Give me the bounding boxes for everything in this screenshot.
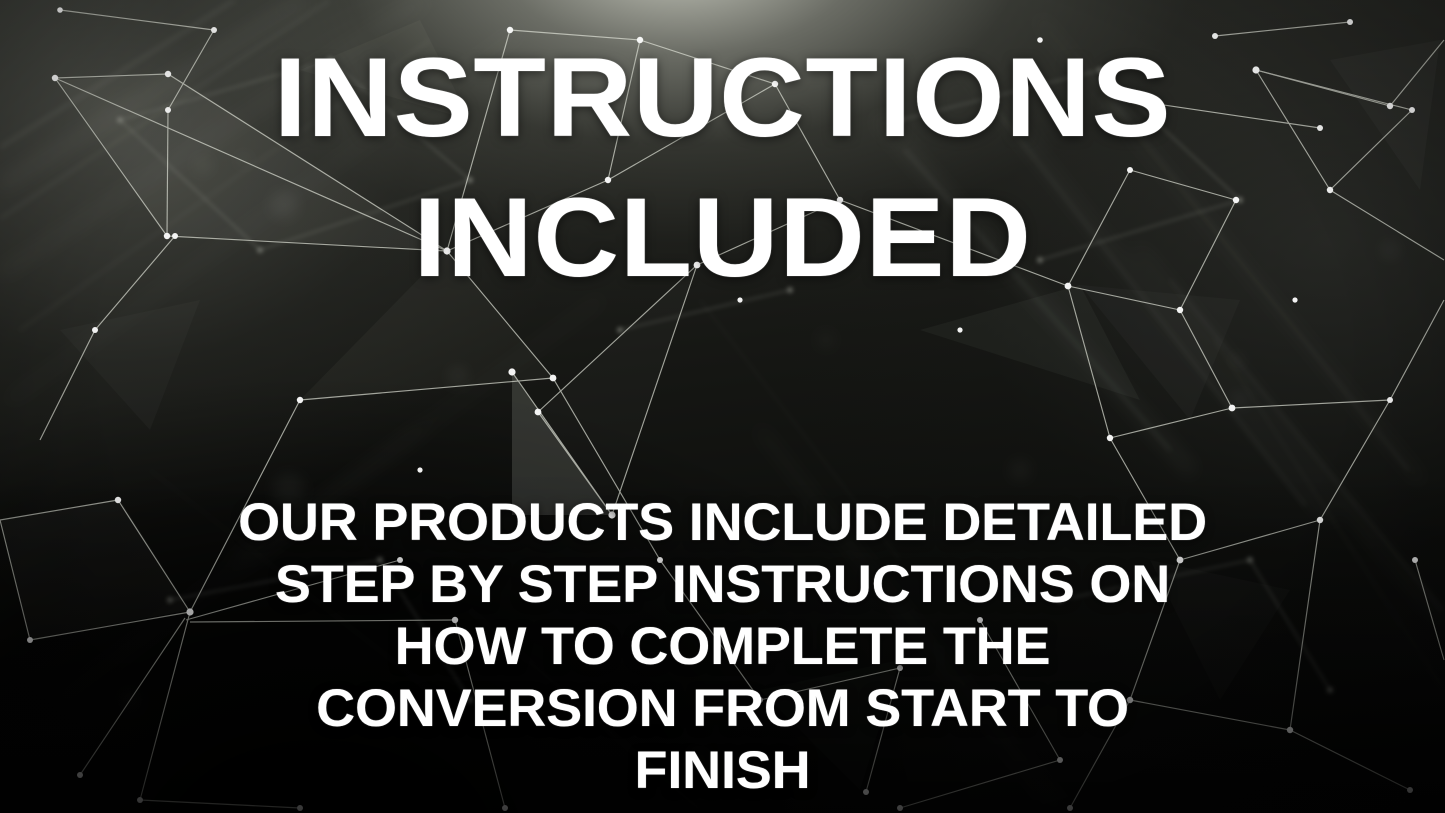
body-line-1: OUR PRODUCTS INCLUDE DETAILED — [0, 492, 1445, 554]
slide-canvas: INSTRUCTIONS INCLUDED OUR PRODUCTS INCLU… — [0, 0, 1445, 813]
slide-content: INSTRUCTIONS INCLUDED OUR PRODUCTS INCLU… — [0, 0, 1445, 813]
body-line-4: CONVERSION FROM START TO — [0, 678, 1445, 740]
body-text-block: OUR PRODUCTS INCLUDE DETAILED STEP BY ST… — [0, 492, 1445, 802]
body-line-3: HOW TO COMPLETE THE — [0, 616, 1445, 678]
body-line-2: STEP BY STEP INSTRUCTIONS ON — [0, 554, 1445, 616]
page-title-line-1: INSTRUCTIONS — [0, 42, 1445, 154]
body-line-5: FINISH — [0, 740, 1445, 802]
page-title-line-2: INCLUDED — [0, 182, 1445, 294]
